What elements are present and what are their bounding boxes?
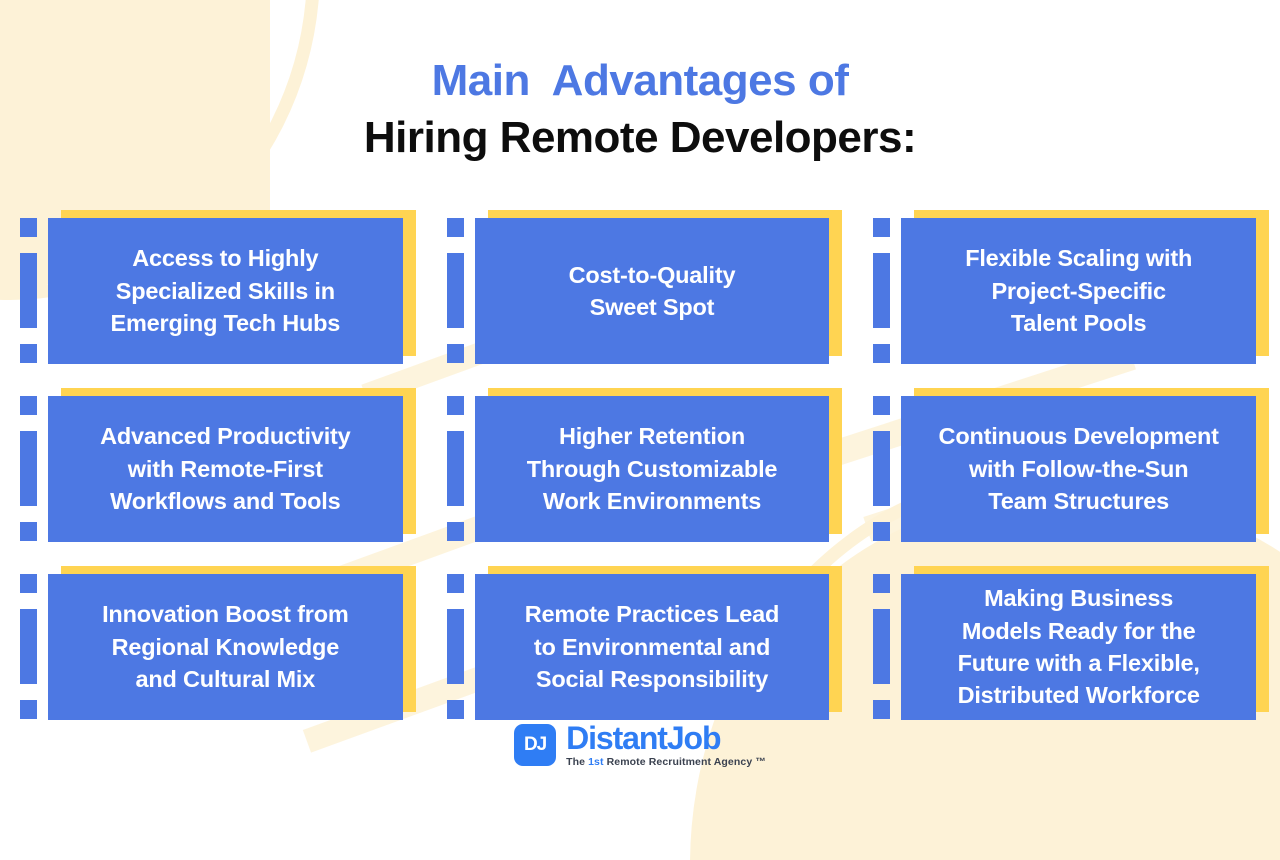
deco-bar-icon (447, 431, 464, 506)
card-decoration-marks-icon (20, 574, 37, 719)
card-body[interactable]: Continuous Development with Follow-the-S… (901, 396, 1256, 542)
card-decoration-marks-icon (447, 218, 464, 363)
card-label: Flexible Scaling with Project-Specific T… (965, 242, 1192, 339)
logo-tagline: The 1st Remote Recruitment Agency ™ (566, 757, 766, 768)
card-wrapper: Flexible Scaling with Project-Specific T… (901, 218, 1256, 364)
advantage-card-1: Access to Highly Specialized Skills in E… (0, 200, 427, 370)
distantjob-logo[interactable]: DJ DistantJob The 1st Remote Recruitment… (0, 722, 1280, 768)
card-wrapper: Innovation Boost from Regional Knowledge… (48, 574, 403, 720)
card-wrapper: Remote Practices Lead to Environmental a… (475, 574, 830, 720)
card-body[interactable]: Higher Retention Through Customizable Wo… (475, 396, 830, 542)
card-body[interactable]: Flexible Scaling with Project-Specific T… (901, 218, 1256, 364)
deco-square-top-icon (873, 574, 890, 593)
card-decoration-marks-icon (447, 574, 464, 719)
deco-square-top-icon (447, 396, 464, 415)
card-label: Remote Practices Lead to Environmental a… (525, 598, 779, 695)
card-label: Higher Retention Through Customizable Wo… (527, 420, 778, 517)
deco-square-bottom-icon (447, 344, 464, 363)
card-wrapper: Making Business Models Ready for the Fut… (901, 574, 1256, 720)
deco-square-top-icon (873, 396, 890, 415)
logo-tagline-highlight: 1st (588, 756, 603, 768)
deco-square-bottom-icon (873, 700, 890, 719)
card-decoration-marks-icon (20, 218, 37, 363)
card-label: Cost-to-Quality Sweet Spot (569, 259, 736, 324)
card-label: Advanced Productivity with Remote-First … (100, 420, 350, 517)
card-label: Innovation Boost from Regional Knowledge… (102, 598, 348, 695)
deco-square-bottom-icon (20, 522, 37, 541)
logo-name: DistantJob (566, 722, 766, 754)
deco-square-top-icon (447, 574, 464, 593)
deco-bar-icon (447, 253, 464, 328)
card-decoration-marks-icon (447, 396, 464, 541)
logo-tagline-pre: The (566, 756, 588, 768)
card-label: Continuous Development with Follow-the-S… (939, 420, 1219, 517)
deco-bar-icon (447, 609, 464, 684)
deco-square-top-icon (873, 218, 890, 237)
deco-bar-icon (20, 253, 37, 328)
card-wrapper: Advanced Productivity with Remote-First … (48, 396, 403, 542)
card-body[interactable]: Advanced Productivity with Remote-First … (48, 396, 403, 542)
deco-bar-icon (20, 431, 37, 506)
card-label: Making Business Models Ready for the Fut… (958, 582, 1200, 712)
advantage-card-9: Making Business Models Ready for the Fut… (853, 556, 1280, 726)
deco-square-bottom-icon (20, 700, 37, 719)
card-wrapper: Continuous Development with Follow-the-S… (901, 396, 1256, 542)
card-body[interactable]: Remote Practices Lead to Environmental a… (475, 574, 830, 720)
deco-square-top-icon (447, 218, 464, 237)
advantage-card-5: Higher Retention Through Customizable Wo… (427, 378, 854, 548)
card-wrapper: Cost-to-Quality Sweet Spot (475, 218, 830, 364)
deco-square-bottom-icon (873, 344, 890, 363)
deco-square-bottom-icon (20, 344, 37, 363)
card-decoration-marks-icon (873, 396, 890, 541)
advantage-card-8: Remote Practices Lead to Environmental a… (427, 556, 854, 726)
advantage-card-3: Flexible Scaling with Project-Specific T… (853, 200, 1280, 370)
card-wrapper: Higher Retention Through Customizable Wo… (475, 396, 830, 542)
page-title: Main Advantages of Hiring Remote Develop… (0, 0, 1280, 163)
card-label: Access to Highly Specialized Skills in E… (110, 242, 340, 339)
advantage-card-4: Advanced Productivity with Remote-First … (0, 378, 427, 548)
advantage-card-7: Innovation Boost from Regional Knowledge… (0, 556, 427, 726)
page-title-line-1: Main Advantages of (0, 56, 1280, 105)
advantages-grid: Access to Highly Specialized Skills in E… (0, 200, 1280, 726)
deco-bar-icon (873, 253, 890, 328)
card-body[interactable]: Access to Highly Specialized Skills in E… (48, 218, 403, 364)
deco-square-top-icon (20, 574, 37, 593)
deco-square-top-icon (20, 218, 37, 237)
card-body[interactable]: Innovation Boost from Regional Knowledge… (48, 574, 403, 720)
card-decoration-marks-icon (873, 574, 890, 719)
deco-bar-icon (873, 431, 890, 506)
card-body[interactable]: Making Business Models Ready for the Fut… (901, 574, 1256, 720)
logo-wordmark: DistantJob The 1st Remote Recruitment Ag… (566, 722, 766, 768)
deco-square-bottom-icon (447, 522, 464, 541)
infographic-page: Main Advantages of Hiring Remote Develop… (0, 0, 1280, 860)
deco-square-bottom-icon (873, 522, 890, 541)
dj-monogram-icon: DJ (514, 724, 556, 766)
card-decoration-marks-icon (20, 396, 37, 541)
deco-bar-icon (20, 609, 37, 684)
card-body[interactable]: Cost-to-Quality Sweet Spot (475, 218, 830, 364)
page-title-line-2: Hiring Remote Developers: (0, 113, 1280, 162)
deco-square-bottom-icon (447, 700, 464, 719)
advantage-card-6: Continuous Development with Follow-the-S… (853, 378, 1280, 548)
deco-bar-icon (873, 609, 890, 684)
advantage-card-2: Cost-to-Quality Sweet Spot (427, 200, 854, 370)
dj-monogram-label: DJ (524, 735, 546, 754)
deco-square-top-icon (20, 396, 37, 415)
logo-tagline-post: Remote Recruitment Agency ™ (604, 756, 766, 768)
card-decoration-marks-icon (873, 218, 890, 363)
card-wrapper: Access to Highly Specialized Skills in E… (48, 218, 403, 364)
